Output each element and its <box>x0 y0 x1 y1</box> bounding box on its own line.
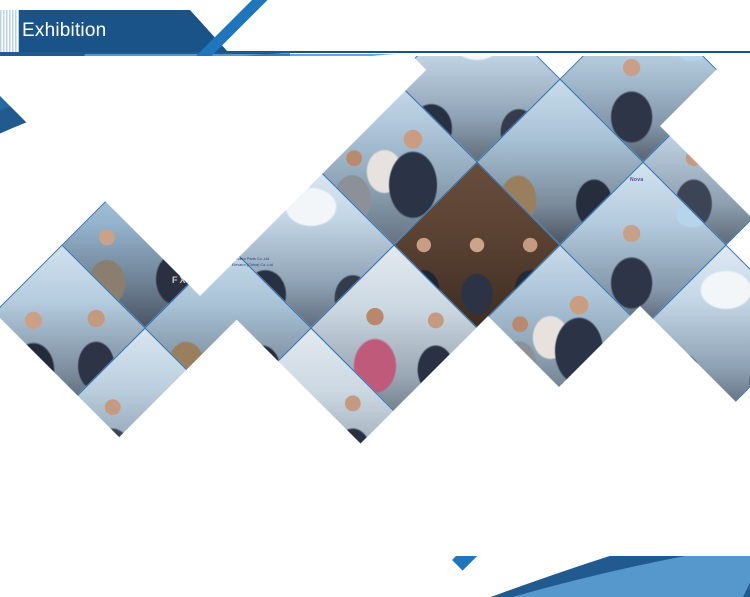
page-header: Exhibition <box>0 10 750 54</box>
header-stripe-decor-icon <box>0 10 19 52</box>
exhibition-banner: Exhibition <box>0 0 750 597</box>
booth-sign-fxn: FXN <box>172 278 196 283</box>
booth-sign-line-2: Nova Elevator (China) Co.,Ltd <box>222 263 273 268</box>
booth-brand-nova: Nova <box>630 178 643 183</box>
photo-collage: FXN Nova Elevator Parts Co.,Ltd Nova Ele… <box>0 56 750 556</box>
booth-sign-line-1: Nova Elevator Parts Co.,Ltd <box>222 257 269 262</box>
page-title: Exhibition <box>22 10 106 52</box>
